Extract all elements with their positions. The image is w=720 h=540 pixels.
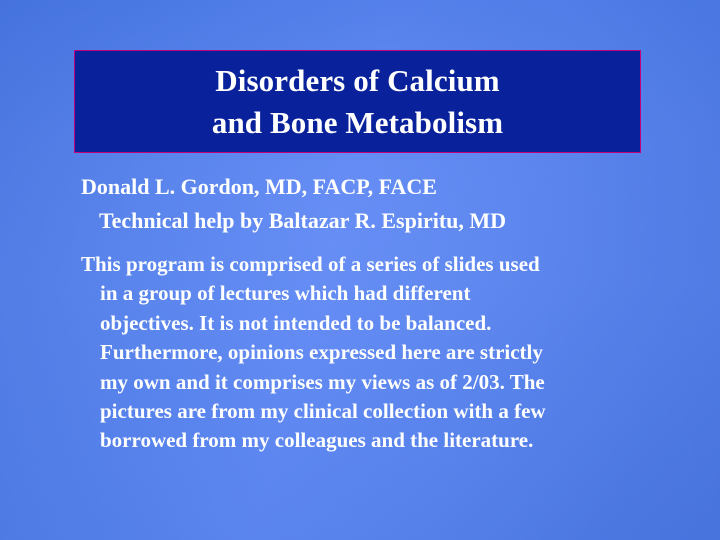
- disclaimer-line-1: This program is comprised of a series of…: [81, 250, 661, 279]
- disclaimer-paragraph: This program is comprised of a series of…: [62, 250, 661, 456]
- slide-canvas: Disorders of Calcium and Bone Metabolism…: [0, 0, 720, 540]
- disclaimer-line-5: my own and it comprises my views as of 2…: [81, 368, 661, 397]
- disclaimer-line-2: in a group of lectures which had differe…: [81, 279, 661, 308]
- title-line-1: Disorders of Calcium: [215, 60, 499, 101]
- disclaimer-line-3: objectives. It is not intended to be bal…: [81, 309, 661, 338]
- disclaimer-line-4: Furthermore, opinions expressed here are…: [81, 338, 661, 367]
- disclaimer-line-7: borrowed from my colleagues and the lite…: [81, 426, 661, 455]
- title-line-2: and Bone Metabolism: [212, 102, 503, 143]
- disclaimer-line-6: pictures are from my clinical collection…: [81, 397, 661, 426]
- title-box: Disorders of Calcium and Bone Metabolism: [74, 50, 641, 153]
- technical-credit-line: Technical help by Baltazar R. Espiritu, …: [62, 206, 662, 235]
- author-line: Donald L. Gordon, MD, FACP, FACE: [62, 172, 662, 201]
- body-content: Donald L. Gordon, MD, FACP, FACE Technic…: [62, 172, 662, 456]
